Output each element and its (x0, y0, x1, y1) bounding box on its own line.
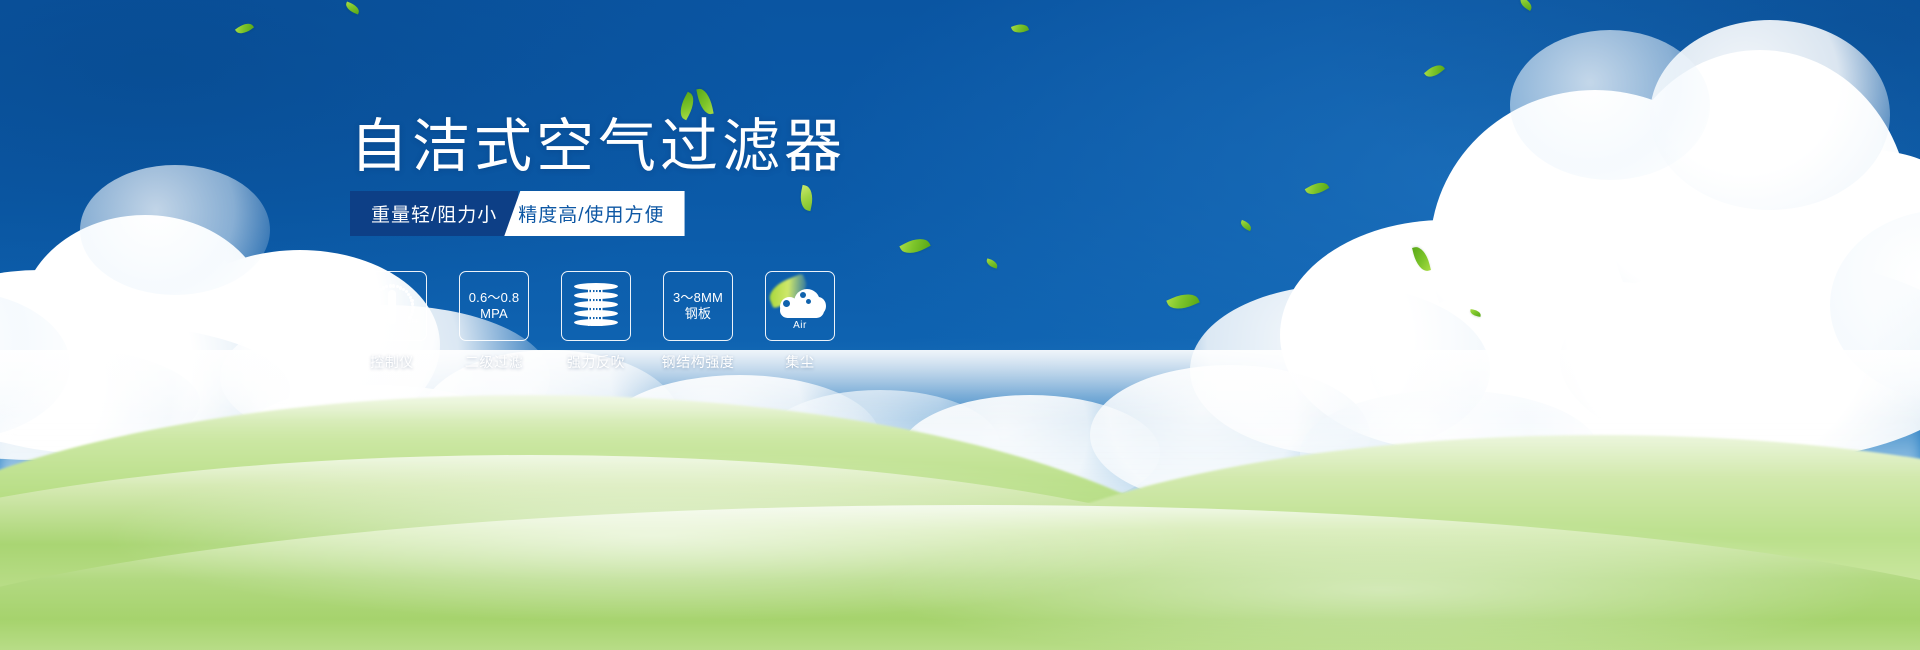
gauge-tick (370, 302, 373, 305)
gauge-tick (374, 293, 377, 296)
gauge-tick (372, 296, 375, 299)
cloud-cutout (806, 299, 811, 304)
cartridge-disc (574, 301, 618, 308)
cloud-cutout (783, 300, 790, 307)
gauge-tick (371, 313, 374, 316)
banner-content: 自洁式空气过滤器 重量轻/阻力小 精度高/使用方便 NO OFF 控制仪 (0, 0, 1920, 650)
gauge-tick (392, 284, 395, 287)
feature-item-backblow[interactable]: 强力反吹 (561, 271, 631, 372)
gauge-icon: NO OFF (365, 281, 419, 331)
steel-value-line2: 钢板 (685, 306, 711, 322)
feature-caption: 集尘 (785, 352, 814, 372)
cloud-cutout (800, 292, 806, 298)
gauge-tick (408, 316, 411, 319)
gauge-tick (370, 299, 373, 302)
cartridge-disc (574, 292, 618, 299)
tag-weight-resistance[interactable]: 重量轻/阻力小 (350, 191, 518, 236)
steel-value-line1: 3～8MM (673, 290, 723, 306)
cartridge-disc (574, 283, 618, 290)
gauge-tick (369, 306, 372, 309)
cartridge-disc (574, 319, 618, 326)
feature-list: NO OFF 控制仪 0.6～0.8 MPA 二级过滤 (357, 271, 835, 372)
gauge-tick (370, 309, 373, 312)
feature-item-controller[interactable]: NO OFF 控制仪 (357, 271, 427, 372)
feature-caption: 钢结构强度 (662, 352, 735, 372)
feature-item-two-stage-filter[interactable]: 0.6～0.8 MPA 二级过滤 (459, 271, 529, 372)
feature-icon-box: 3～8MM 钢板 (663, 271, 733, 341)
page-title: 自洁式空气过滤器 (350, 118, 846, 176)
tag-precision-convenience[interactable]: 精度高/使用方便 (504, 191, 684, 236)
pressure-value-line2: MPA (480, 306, 508, 322)
feature-item-dust-collection[interactable]: Air 集尘 (765, 271, 835, 372)
tag-row: 重量轻/阻力小 精度高/使用方便 (350, 191, 685, 236)
feature-icon-box: 0.6～0.8 MPA (459, 271, 529, 341)
cartridge-disc (574, 310, 618, 317)
air-cloud-icon: Air (772, 283, 828, 329)
feature-icon-box: Air (765, 271, 835, 341)
hero-banner: 自洁式空气过滤器 重量轻/阻力小 精度高/使用方便 NO OFF 控制仪 (0, 0, 1920, 650)
filter-cartridge-icon (574, 283, 618, 329)
gauge-tick (385, 285, 388, 288)
air-label: Air (772, 320, 828, 331)
pressure-value-line1: 0.6～0.8 (469, 290, 520, 306)
feature-item-steel-strength[interactable]: 3～8MM 钢板 钢结构强度 (663, 271, 733, 372)
gauge-needle (388, 290, 396, 324)
feature-caption: 控制仪 (370, 352, 414, 372)
feature-icon-box: NO OFF (357, 271, 427, 341)
feature-icon-box (561, 271, 631, 341)
gauge-label-off: OFF (407, 319, 419, 325)
feature-caption: 强力反吹 (567, 352, 625, 372)
feature-caption: 二级过滤 (465, 352, 523, 372)
gauge-tick (372, 316, 375, 319)
